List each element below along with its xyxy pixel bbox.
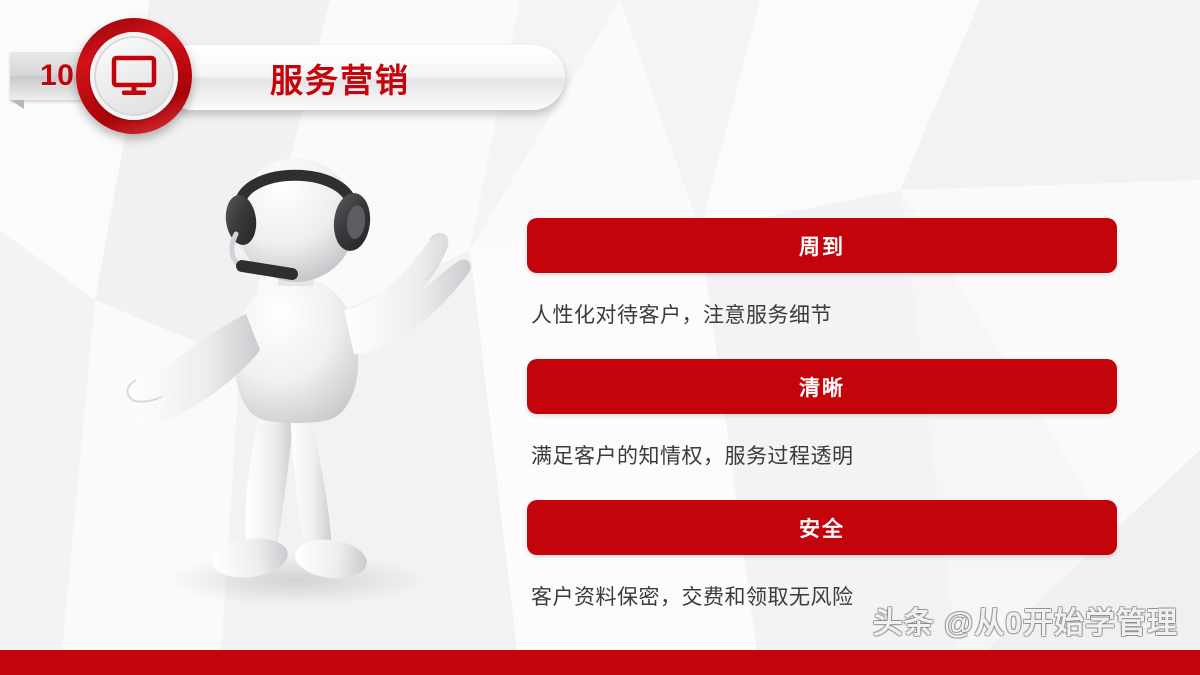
principle-label: 清晰: [799, 372, 845, 402]
principle-bar[interactable]: 清晰: [527, 359, 1117, 414]
principle-label: 安全: [799, 513, 845, 543]
slide: 10 服务营销: [0, 0, 1200, 675]
section-title-pill: 服务营销: [160, 45, 565, 110]
section-badge: [76, 18, 192, 134]
section-number: 10: [40, 59, 74, 93]
principle-description: 人性化对待客户，注意服务细节: [527, 273, 1117, 351]
mannequin-with-headset-icon: [100, 158, 490, 613]
badge-inner-circle: [90, 32, 178, 120]
monitor-icon: [111, 55, 157, 97]
list-item: 周到 人性化对待客户，注意服务细节: [527, 218, 1117, 351]
header: 10 服务营销: [0, 0, 640, 145]
principle-bar[interactable]: 安全: [527, 500, 1117, 555]
principle-bar[interactable]: 周到: [527, 218, 1117, 273]
watermark: 头条 @从0开始学管理: [873, 598, 1178, 642]
list-item: 清晰 满足客户的知情权，服务过程透明: [527, 359, 1117, 492]
footer-bar: [0, 650, 1200, 675]
service-principles-list: 周到 人性化对待客户，注意服务细节 清晰 满足客户的知情权，服务过程透明 安全 …: [527, 218, 1117, 633]
page-title: 服务营销: [270, 54, 410, 102]
principle-label: 周到: [799, 231, 845, 261]
principle-description: 满足客户的知情权，服务过程透明: [527, 414, 1117, 492]
